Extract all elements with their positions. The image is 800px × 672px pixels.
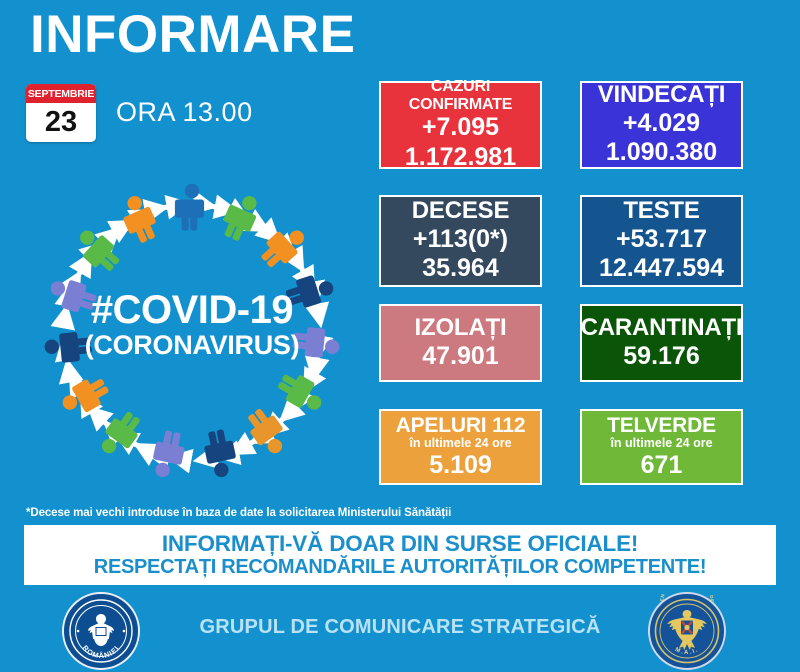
report-hour: ORA 13.00 [116,97,253,128]
stat-value-new: +53.717 [616,225,707,255]
stat-label: TELVERDE [607,414,716,438]
stat-label: CAZURI CONFIRMATE [381,78,540,114]
official-sources-banner: INFORMAȚI-VĂ DOAR DIN SURSE OFICIALE! RE… [24,525,776,585]
stat-label: VINDECAȚI [598,82,726,109]
footer-title: GRUPUL DE COMUNICARE STRATEGICĂ [0,616,800,639]
svg-text:GUVERNUL: GUVERNUL [75,594,126,595]
banner-line-1: INFORMAȚI-VĂ DOAR DIN SURSE OFICIALE! [162,531,638,556]
banner-line-2: RESPECTAȚI RECOMANDĂRILE AUTORITĂȚILOR C… [94,556,706,578]
covid-report-poster: INFORMARE SEPTEMBRIE 23 ORA 13.00 [0,0,800,672]
page-title: INFORMARE [30,6,355,64]
stat-value-total: 12.447.594 [599,254,724,284]
stat-value-new: 5.109 [429,451,492,481]
stat-box-teste: TESTE+53.71712.447.594 [580,195,743,287]
stat-value-total: 35.964 [422,254,498,284]
stat-value-new: 47.901 [422,342,498,372]
stat-box-izolati: IZOLAȚI47.901 [379,304,542,382]
stat-box-apeluri-112: APELURI 112în ultimele 24 ore5.109 [379,409,542,485]
stat-label: APELURI 112 [396,414,526,438]
stat-value-new: 59.176 [623,342,699,372]
stat-box-vindecati: VINDECAȚI+4.0291.090.380 [580,81,743,169]
stat-value-new: 671 [641,451,683,481]
calendar-icon: SEPTEMBRIE 23 [26,84,96,142]
stat-value-total: 1.090.380 [606,138,717,168]
calendar-day: 23 [26,103,96,142]
people-ring-graphic [22,172,362,502]
calendar-month: SEPTEMBRIE [26,84,96,103]
stat-sublabel: în ultimele 24 ore [409,436,511,450]
stat-value-new: +4.029 [623,109,700,139]
stat-value-new: +113(0*) [413,225,508,255]
stat-label: CARANTINAȚI [581,315,743,342]
stat-label: IZOLAȚI [415,315,507,342]
stat-label: DECESE [412,198,510,225]
stat-box-telverde: TELVERDEîn ultimele 24 ore671 [580,409,743,485]
stat-value-total: 1.172.981 [405,143,516,173]
covid-illustration: #COVID-19 (CORONAVIRUS) [22,172,362,502]
stat-label: TESTE [623,198,699,225]
stat-box-cazuri-confirmate: CAZURI CONFIRMATE+7.0951.172.981 [379,81,542,169]
footnote: *Decese mai vechi introduse în baza de d… [26,507,451,519]
stat-sublabel: în ultimele 24 ore [610,436,712,450]
stat-value-new: +7.095 [422,113,499,143]
stat-box-carantinati: CARANTINAȚI59.176 [580,304,743,382]
stat-box-decese: DECESE+113(0*)35.964 [379,195,542,287]
